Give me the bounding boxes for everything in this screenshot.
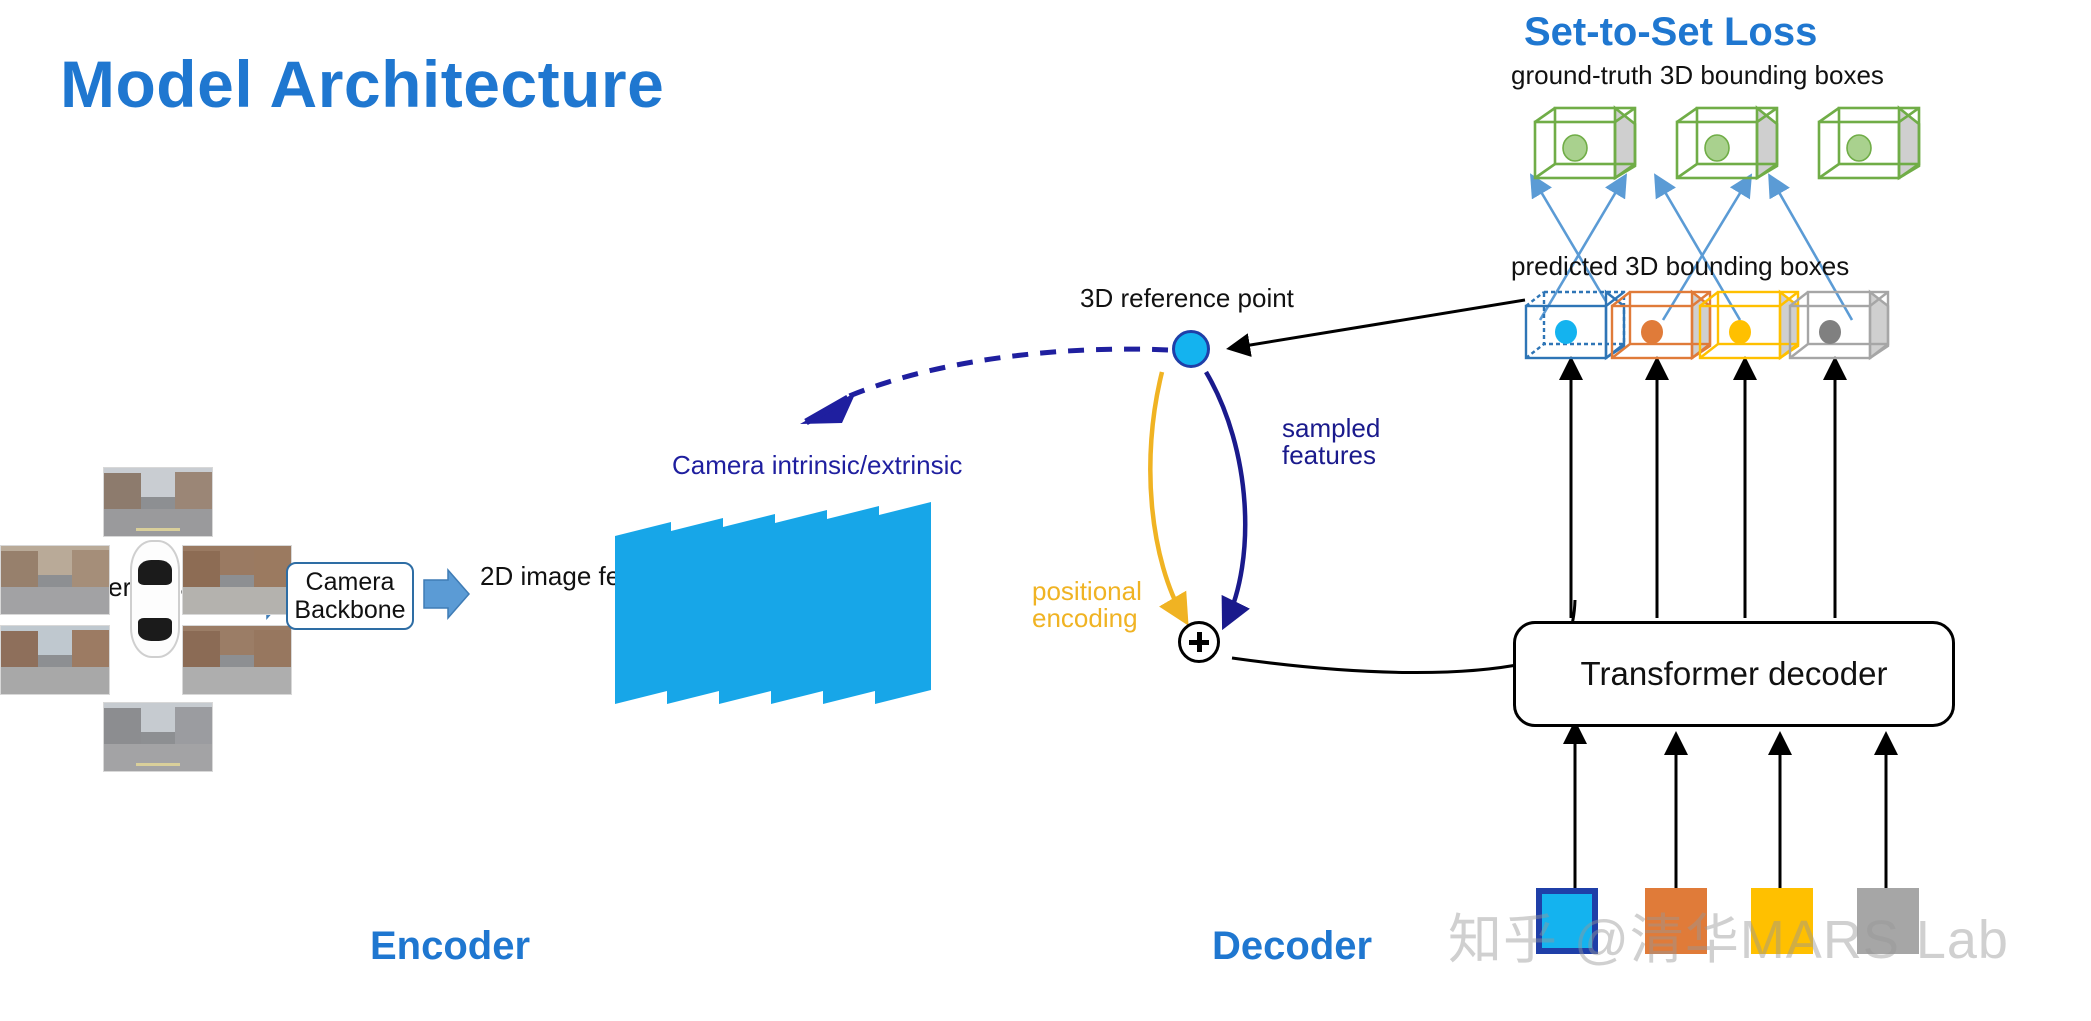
feature-plane-2 <box>667 518 723 704</box>
sampled-features-label: sampled features <box>1282 415 1380 470</box>
positional-encoding-label-line1: positional <box>1032 578 1142 605</box>
diagram-canvas: Model Architecture Set-to-Set Loss Encod… <box>0 0 2091 1021</box>
camera-image-front-left <box>0 545 110 615</box>
camera-projection-dashed-line <box>840 349 1168 400</box>
transformer-decoder-block[interactable]: Transformer decoder <box>1513 621 1955 727</box>
feature-plane-1 <box>615 522 671 704</box>
ground-truth-box-3 <box>1807 104 1929 182</box>
camera-backbone-label-line1: Camera <box>306 568 395 596</box>
camera-image-back-left <box>0 625 110 695</box>
queries-to-decoder-arrows <box>1575 726 1886 888</box>
ground-truth-box-2 <box>1665 104 1787 182</box>
ground-truth-box-1 <box>1523 104 1645 182</box>
positional-encoding-label: positional encoding <box>1032 578 1142 633</box>
feature-plane-5 <box>823 506 879 704</box>
ego-vehicle-icon <box>130 540 180 658</box>
feature-plane-4 <box>771 510 827 704</box>
camera-backbone-label-line2: Backbone <box>294 596 405 624</box>
camera-image-back-right <box>182 625 292 695</box>
camera-backbone-block[interactable]: Camera Backbone <box>286 562 414 630</box>
set-to-set-loss-title: Set-to-Set Loss <box>1524 10 1817 55</box>
decoder-to-predictions-arrows <box>1571 362 1835 618</box>
positional-encoding-curve <box>1150 372 1184 618</box>
camera-image-front-right <box>182 545 292 615</box>
predicted-boxes-caption: predicted 3D bounding boxes <box>1511 251 1849 282</box>
camera-intrinsic-extrinsic-label: Camera intrinsic/extrinsic <box>672 450 962 481</box>
camera-image-back <box>103 702 213 772</box>
sampled-features-label-line1: sampled <box>1282 415 1380 442</box>
sampled-features-curve <box>1206 372 1245 622</box>
positional-encoding-label-line2: encoding <box>1032 605 1142 632</box>
feature-plane-6 <box>875 502 931 704</box>
decoder-section-label: Decoder <box>1212 924 1372 969</box>
watermark: 知乎 @清华MARS Lab <box>1448 895 2009 974</box>
feature-plane-3 <box>719 514 775 704</box>
plus-circle-icon <box>1178 621 1220 663</box>
reference-point-caption: 3D reference point <box>1080 283 1294 314</box>
page-title: Model Architecture <box>60 46 664 122</box>
camera-image-front <box>103 467 213 537</box>
ground-truth-boxes-caption: ground-truth 3D bounding boxes <box>1511 60 1884 91</box>
flow-arrow-2 <box>424 570 469 618</box>
camera-projection-arrowhead <box>800 392 856 424</box>
reference-point-dot-icon <box>1172 330 1210 368</box>
encoder-section-label: Encoder <box>370 924 530 969</box>
sampled-features-label-line2: features <box>1282 442 1380 469</box>
predicted-box-4 <box>1782 288 1898 362</box>
transformer-decoder-label: Transformer decoder <box>1581 655 1888 693</box>
